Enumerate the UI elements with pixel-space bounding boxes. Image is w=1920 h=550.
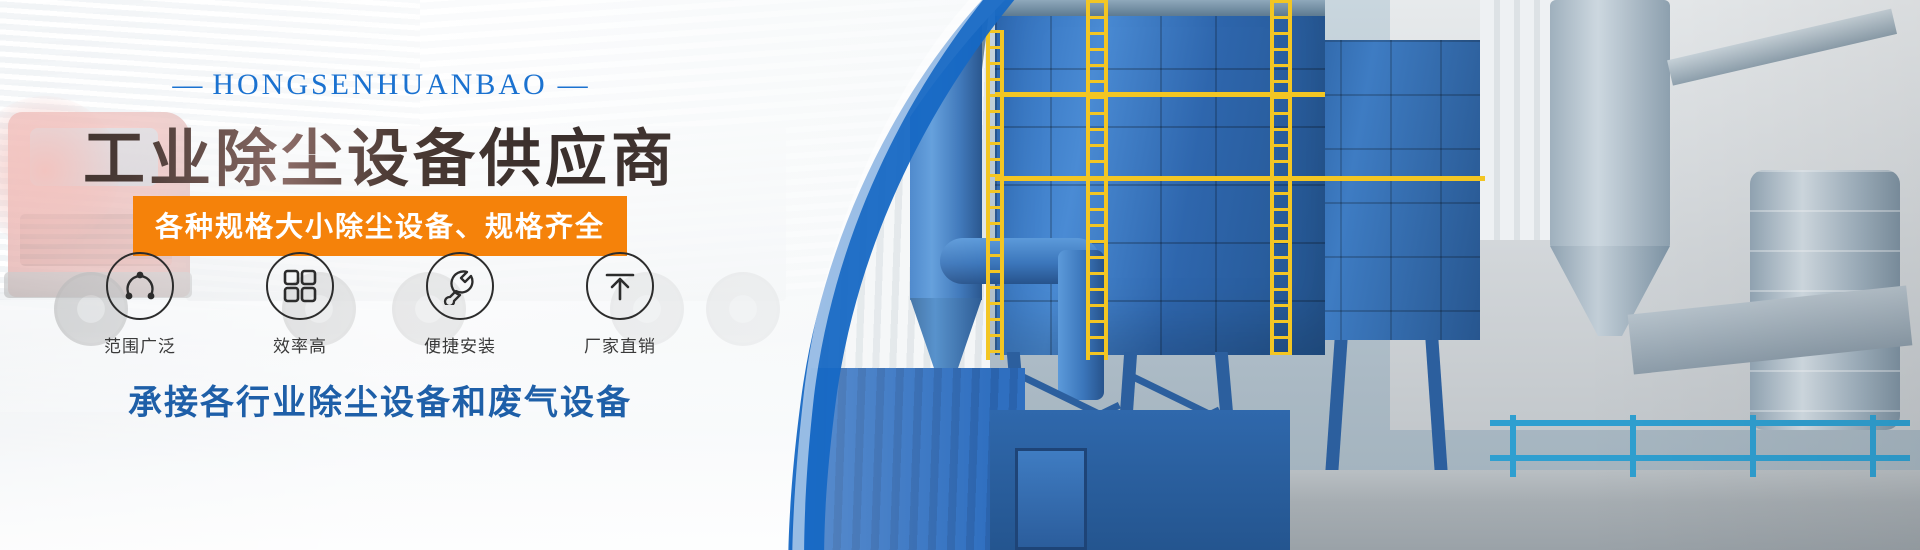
dust-collector-photo bbox=[790, 0, 1920, 550]
photo-shading bbox=[790, 0, 1920, 550]
feature-icon-circle bbox=[426, 252, 494, 320]
feature-icon-circle bbox=[266, 252, 334, 320]
feature-icon-circle bbox=[586, 252, 654, 320]
subheadline-wrap: 各种规格大小除尘设备、规格齐全 bbox=[0, 196, 760, 256]
wrench-icon bbox=[441, 267, 479, 305]
headline: 工业除尘设备供应商 bbox=[0, 108, 760, 198]
feature-label: 厂家直销 bbox=[564, 332, 676, 357]
subheadline-badge: 各种规格大小除尘设备、规格齐全 bbox=[133, 196, 627, 256]
dash-left: — bbox=[162, 68, 212, 101]
feature-label: 便捷安装 bbox=[404, 332, 516, 357]
arrow-up-bar-icon bbox=[602, 268, 638, 304]
banner-text-content: —HONGSENHUANBAO— 工业除尘设备供应商 各种规格大小除尘设备、规格… bbox=[0, 0, 790, 550]
feature-item[interactable]: 便捷安装 bbox=[404, 252, 516, 357]
feature-label: 效率高 bbox=[244, 332, 356, 357]
feature-item[interactable]: 范围广泛 bbox=[84, 252, 196, 357]
english-tagline-text: HONGSENHUANBAO bbox=[212, 68, 547, 101]
english-tagline: —HONGSENHUANBAO— bbox=[0, 68, 760, 102]
share-nodes-icon bbox=[120, 266, 160, 306]
grid-squares-icon bbox=[282, 268, 318, 304]
feature-item[interactable]: 效率高 bbox=[244, 252, 356, 357]
promo-banner: —HONGSENHUANBAO— 工业除尘设备供应商 各种规格大小除尘设备、规格… bbox=[0, 0, 1920, 550]
bottom-tagline: 承接各行业除尘设备和废气设备 bbox=[0, 375, 760, 424]
feature-label: 范围广泛 bbox=[84, 332, 196, 357]
feature-list: 范围广泛 效率高 bbox=[0, 252, 760, 357]
feature-icon-circle bbox=[106, 252, 174, 320]
dash-right: — bbox=[548, 68, 598, 101]
feature-item[interactable]: 厂家直销 bbox=[564, 252, 676, 357]
